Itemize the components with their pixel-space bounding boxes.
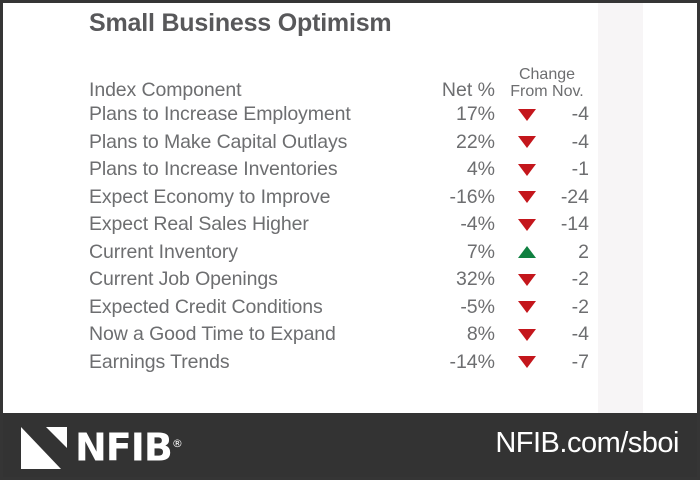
slide-container: Small Business Optimism Index Component … [0, 0, 700, 480]
row-direction [509, 351, 545, 373]
triangle-down-icon [518, 274, 536, 286]
row-net-percent: 17% [389, 103, 495, 126]
row-direction [509, 213, 545, 235]
row-label: Expected Credit Conditions [89, 296, 323, 319]
row-label: Current Inventory [89, 241, 238, 264]
row-change-value: -14 [545, 213, 589, 236]
column-header-change-line2: From Nov. [505, 84, 589, 100]
table-row: Plans to Increase Inventories4%-1 [89, 158, 589, 186]
nfib-wordmark: NFIB® [75, 425, 183, 467]
triangle-down-icon [518, 329, 536, 341]
triangle-down-icon [518, 164, 536, 176]
triangle-down-icon [518, 109, 536, 121]
row-label: Expect Economy to Improve [89, 186, 330, 209]
row-change-value: -4 [545, 103, 589, 126]
row-change-value: -4 [545, 131, 589, 154]
triangle-down-icon [518, 136, 536, 148]
row-label: Plans to Increase Employment [89, 103, 351, 126]
triangle-down-icon [518, 301, 536, 313]
row-label: Plans to Make Capital Outlays [89, 131, 347, 154]
row-net-percent: -4% [389, 213, 495, 236]
column-header-component: Index Component [89, 79, 241, 102]
column-header-change: Change From Nov. [505, 67, 589, 100]
row-direction [509, 268, 545, 290]
row-net-percent: 32% [389, 268, 495, 291]
row-change-value: -4 [545, 323, 589, 346]
row-direction [509, 323, 545, 345]
footer-url[interactable]: NFIB.com/sboi [495, 427, 679, 460]
row-net-percent: 4% [389, 158, 495, 181]
row-net-percent: 8% [389, 323, 495, 346]
content-panel: Small Business Optimism Index Component … [3, 3, 697, 413]
column-header-net: Net % [389, 79, 495, 102]
row-change-value: -7 [545, 351, 589, 374]
row-net-percent: 22% [389, 131, 495, 154]
triangle-down-icon [518, 356, 536, 368]
column-header-change-line1: Change [505, 67, 589, 83]
row-change-value: -2 [545, 268, 589, 291]
nfib-wordmark-text: NFIB [75, 426, 172, 470]
table-row: Expected Credit Conditions-5%-2 [89, 296, 589, 324]
registered-mark: ® [172, 437, 183, 450]
row-change-value: -24 [545, 186, 589, 209]
row-direction [509, 158, 545, 180]
row-label: Expect Real Sales Higher [89, 213, 309, 236]
row-change-value: -2 [545, 296, 589, 319]
page-title: Small Business Optimism [89, 9, 391, 38]
row-label: Current Job Openings [89, 268, 278, 291]
row-direction [509, 296, 545, 318]
nfib-logo-mark-icon [21, 423, 67, 469]
triangle-down-icon [518, 191, 536, 203]
table-row: Current Inventory7%2 [89, 241, 589, 269]
table-row: Expect Economy to Improve-16%-24 [89, 186, 589, 214]
row-label: Earnings Trends [89, 351, 230, 374]
table-row: Earnings Trends-14%-7 [89, 351, 589, 379]
row-label: Now a Good Time to Expand [89, 323, 336, 346]
row-change-value: 2 [545, 241, 589, 264]
optimism-table: Index Component Net % Change From Nov. P… [89, 67, 589, 378]
decorative-band [598, 3, 643, 413]
row-change-value: -1 [545, 158, 589, 181]
table-row: Now a Good Time to Expand8%-4 [89, 323, 589, 351]
row-net-percent: -14% [389, 351, 495, 374]
row-direction [509, 103, 545, 125]
footer-bar: NFIB® NFIB.com/sboi [3, 413, 697, 477]
table-row: Current Job Openings32%-2 [89, 268, 589, 296]
table-row: Plans to Increase Employment17%-4 [89, 103, 589, 131]
table-row: Expect Real Sales Higher-4%-14 [89, 213, 589, 241]
row-net-percent: 7% [389, 241, 495, 264]
row-net-percent: -5% [389, 296, 495, 319]
triangle-down-icon [518, 219, 536, 231]
row-net-percent: -16% [389, 186, 495, 209]
nfib-logo[interactable]: NFIB® [21, 423, 183, 469]
table-header-row: Index Component Net % Change From Nov. [89, 67, 589, 103]
row-direction [509, 131, 545, 153]
row-label: Plans to Increase Inventories [89, 158, 338, 181]
row-direction [509, 241, 545, 263]
triangle-up-icon [518, 246, 536, 258]
row-direction [509, 186, 545, 208]
table-body: Plans to Increase Employment17%-4Plans t… [89, 103, 589, 378]
table-row: Plans to Make Capital Outlays22%-4 [89, 131, 589, 159]
